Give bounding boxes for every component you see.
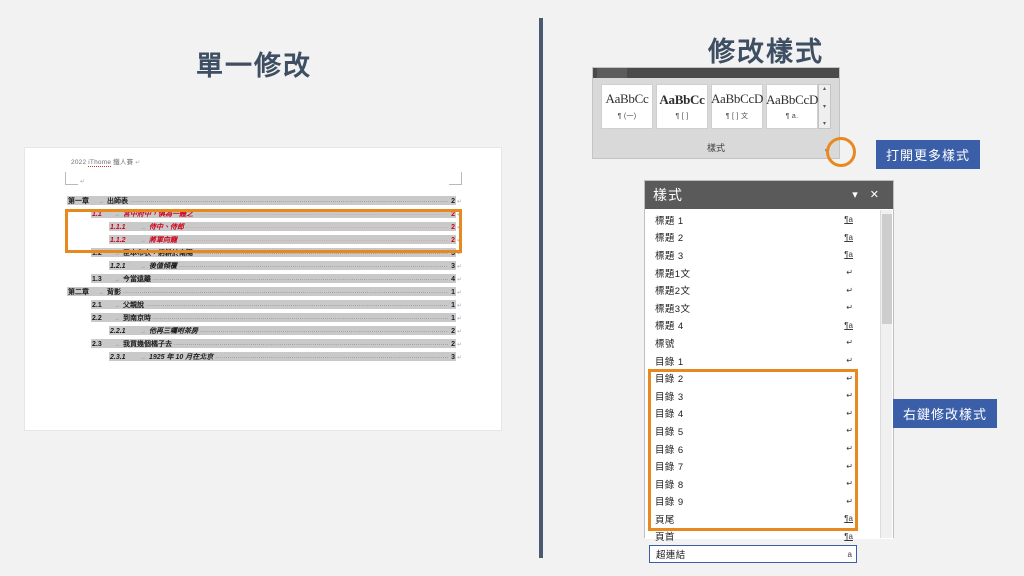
tab-arrow-icon: →: [140, 238, 149, 244]
style-name: 標題 3: [655, 248, 839, 262]
dialog-launcher-annotation-circle: [826, 137, 856, 167]
quick-style-thumbnail[interactable]: AaBbCcD¶ [ ] 文: [711, 84, 763, 129]
toc-entry-text: 將軍向寵: [149, 235, 177, 244]
style-list-item[interactable]: 標題 2¶a: [649, 229, 857, 247]
close-icon[interactable]: ✕: [864, 190, 885, 201]
style-type-icon: ¶a: [839, 321, 853, 330]
style-preview-text: AaBbCcD: [711, 92, 763, 106]
toc-page-number: 4: [450, 276, 455, 283]
style-list-item[interactable]: 目錄 4↵: [649, 405, 857, 423]
toc-leader-dots: ........................................…: [174, 341, 448, 347]
toc-leader-dots: ........................................…: [215, 354, 448, 360]
style-name: 目錄 2: [655, 371, 839, 385]
toc-page-number: 2: [450, 198, 455, 205]
toc-page-number: 1: [450, 315, 455, 322]
gallery-scroll-down-icon[interactable]: ▾: [823, 104, 826, 110]
style-list-item[interactable]: 目錄 9↵: [649, 493, 857, 511]
style-list-item[interactable]: 目錄 5↵: [649, 422, 857, 440]
toc-row: 第二章→背影..................................…: [67, 287, 462, 300]
style-type-icon: ↵: [839, 391, 853, 400]
toc-leader-dots: ........................................…: [179, 237, 448, 243]
style-list-item[interactable]: 目錄 6↵: [649, 440, 857, 458]
toc-number: 1.1.2: [110, 237, 140, 244]
ribbon-tab-bar: [593, 68, 839, 78]
style-list-item[interactable]: 標題1文↵: [649, 264, 857, 282]
style-type-icon: ↵: [839, 462, 853, 471]
style-preview-text: AaBbCc: [606, 92, 649, 106]
toc-page-number: 3: [450, 263, 455, 270]
style-list-item[interactable]: 目錄 3↵: [649, 387, 857, 405]
style-thumbnail-label: ¶ [ ] 文: [726, 111, 749, 121]
toc-row: 1.1.1→侍中、侍郎.............................…: [67, 222, 462, 235]
paragraph-mark-icon: ↵: [456, 341, 462, 348]
tab-arrow-icon: →: [140, 355, 149, 361]
style-thumbnail-label: ¶ a.: [786, 113, 799, 120]
toc-row: 1.2.1→後值傾覆..............................…: [67, 261, 462, 274]
empty-paragraph-mark-icon: ↵: [80, 178, 85, 185]
style-name: 頁首: [655, 529, 839, 543]
quick-style-thumbnail[interactable]: AaBbCc¶ [ ]: [656, 84, 708, 129]
tab-arrow-icon: →: [114, 277, 123, 283]
toc-leader-dots: ........................................…: [186, 224, 448, 230]
table-of-contents: 第一章→出師表.................................…: [67, 196, 462, 365]
toc-entry-text: 侍中、侍郎: [149, 222, 184, 231]
styles-pane-scrollbar[interactable]: [880, 210, 892, 538]
toc-entry-text: 後值傾覆: [149, 261, 177, 270]
paragraph-mark-icon: ↵: [456, 302, 462, 309]
style-type-icon: ¶a: [839, 215, 853, 224]
toc-entry-text: 出師表: [107, 196, 128, 205]
style-name: 標題 4: [655, 318, 839, 332]
paragraph-mark-icon: ↵: [456, 263, 462, 270]
style-name: 目錄 9: [655, 494, 839, 508]
toc-page-number: 2: [450, 211, 455, 218]
center-divider: [539, 18, 543, 558]
style-name: 超連結: [656, 547, 838, 561]
quick-styles-gallery[interactable]: AaBbCc¶ (一)AaBbCc¶ [ ]AaBbCcD¶ [ ] 文AaBb…: [601, 84, 818, 129]
toc-page-number: 1: [450, 302, 455, 309]
tab-arrow-icon: →: [114, 316, 123, 322]
toc-leader-dots: ........................................…: [200, 328, 448, 334]
toc-row: 2.1→父親說.................................…: [67, 300, 462, 313]
toc-entry-text: 背影: [107, 287, 121, 296]
tab-arrow-icon: →: [98, 199, 107, 205]
style-thumbnail-label: ¶ [ ]: [675, 113, 688, 120]
toc-number: 2.1: [92, 302, 114, 309]
tab-arrow-icon: →: [114, 342, 123, 348]
paragraph-mark-icon: ↵: [456, 211, 462, 218]
styles-pane-header: 樣式 ▾ ✕: [645, 181, 893, 209]
tab-arrow-icon: →: [114, 303, 123, 309]
style-name: 頁尾: [655, 512, 839, 526]
style-type-icon: ↵: [839, 286, 853, 295]
style-list-item[interactable]: 目錄 1↵: [649, 352, 857, 370]
style-name: 目錄 5: [655, 424, 839, 438]
style-name: 標題2文: [655, 283, 839, 297]
quick-style-thumbnail[interactable]: AaBbCcD¶ a.: [766, 84, 818, 129]
toc-leader-dots: ........................................…: [123, 289, 448, 295]
toc-entry-text: 宮中府中，俱為一體之: [123, 209, 193, 218]
toc-page-number: 2: [450, 341, 455, 348]
style-name: 目錄 4: [655, 406, 839, 420]
slide-canvas: 單一修改 修改樣式 2022 iThome 鐵人賽 ↵ ↵ 第一章→出師表...…: [0, 0, 1024, 576]
toc-row-shading: 2.3.1→1925 年 10 月在北京....................…: [109, 352, 456, 361]
gallery-scroll-buttons[interactable]: ▴ ▾ ▾: [818, 84, 831, 129]
style-type-icon: ¶a: [839, 532, 853, 541]
style-list-item[interactable]: 目錄 8↵: [649, 475, 857, 493]
toc-number: 1.2.1: [110, 263, 140, 270]
toc-row-shading: 1.1.1→侍中、侍郎.............................…: [109, 222, 456, 231]
style-list-item[interactable]: 超連結a: [649, 545, 857, 563]
toc-row-shading: 1.2→臣本布衣，躬耕於南陽..........................…: [91, 248, 456, 257]
toc-page-number: 2: [450, 328, 455, 335]
toc-number: 第二章: [68, 287, 98, 296]
toc-row: 1.1.2→將軍向寵..............................…: [67, 235, 462, 248]
style-name: 目錄 3: [655, 389, 839, 403]
header-brand: iThome: [88, 159, 111, 167]
toc-number: 2.2: [92, 315, 114, 322]
paragraph-mark-icon: ↵: [456, 289, 462, 296]
toc-entry-text: 父親說: [123, 300, 144, 309]
style-type-icon: ↵: [839, 444, 853, 453]
toc-row-shading: 1.1→宮中府中，俱為一體之..........................…: [91, 209, 456, 218]
toc-entry-text: 到南京時: [123, 313, 151, 322]
tab-arrow-icon: →: [114, 251, 123, 257]
paragraph-mark-icon: ↵: [456, 354, 462, 361]
page-title-right: 修改樣式: [708, 30, 824, 69]
toc-leader-dots: ........................................…: [195, 250, 448, 256]
styles-task-pane: 樣式 ▾ ✕ 標題 1¶a標題 2¶a標題 3¶a標題1文↵標題2文↵標題3文↵…: [644, 180, 894, 538]
toc-leader-dots: ........................................…: [179, 263, 448, 269]
page-corner-top-right-icon: [449, 172, 462, 185]
style-type-icon: ↵: [839, 409, 853, 418]
toc-entry-text: 1925 年 10 月在北京: [149, 352, 213, 361]
style-list-item[interactable]: 目錄 2↵: [649, 369, 857, 387]
gallery-scroll-up-icon[interactable]: ▴: [823, 86, 826, 92]
scrollbar-thumb[interactable]: [882, 214, 892, 324]
paragraph-mark-icon: ↵: [135, 160, 140, 166]
styles-pane-body: 標題 1¶a標題 2¶a標題 3¶a標題1文↵標題2文↵標題3文↵標題 4¶a標…: [645, 209, 893, 539]
style-name: 目錄 8: [655, 477, 839, 491]
header-year: 2022: [71, 159, 86, 166]
style-type-icon: ↵: [839, 268, 853, 277]
toc-row-shading: 2.2.1→他再三囑咐茶房...........................…: [109, 326, 456, 335]
style-list-item[interactable]: 標題 1¶a: [649, 211, 857, 229]
style-list-item[interactable]: 標題2文↵: [649, 281, 857, 299]
chevron-down-icon[interactable]: ▾: [846, 190, 864, 201]
toc-page-number: 2: [450, 237, 455, 244]
callout-open-more-styles: 打開更多樣式: [876, 140, 980, 169]
style-list-item[interactable]: 標題 3¶a: [649, 246, 857, 264]
toc-leader-dots: ........................................…: [153, 276, 448, 282]
toc-entry-text: 我買幾個橘子去: [123, 339, 172, 348]
style-type-icon: ↵: [839, 479, 853, 488]
toc-row-shading: 第二章→背影..................................…: [67, 287, 456, 296]
style-list-item[interactable]: 標題 4¶a: [649, 317, 857, 335]
tab-arrow-icon: →: [140, 225, 149, 231]
document-header-text: 2022 iThome 鐵人賽 ↵: [71, 156, 141, 166]
toc-row-shading: 1.3→今當遠離................................…: [91, 274, 456, 283]
toc-row: 2.2→到南京時................................…: [67, 313, 462, 326]
toc-number: 1.1: [92, 211, 114, 218]
style-thumbnail-label: ¶ (一): [618, 111, 637, 121]
style-list-item[interactable]: 目錄 7↵: [649, 457, 857, 475]
toc-row-shading: 第一章→出師表.................................…: [67, 196, 456, 205]
toc-number: 1.1.1: [110, 224, 140, 231]
style-type-icon: ¶a: [839, 233, 853, 242]
style-type-icon: ↵: [839, 497, 853, 506]
styles-pane-title: 樣式: [653, 185, 846, 205]
toc-row: 1.3→今當遠離................................…: [67, 274, 462, 287]
callout-right-click-modify: 右鍵修改樣式: [893, 399, 997, 428]
toc-leader-dots: ........................................…: [146, 302, 448, 308]
toc-row: 2.2.1→他再三囑咐茶房...........................…: [67, 326, 462, 339]
tab-arrow-icon: →: [140, 264, 149, 270]
toc-row: 2.3.1→1925 年 10 月在北京....................…: [67, 352, 462, 365]
style-list-item[interactable]: 標題3文↵: [649, 299, 857, 317]
styles-list[interactable]: 標題 1¶a標題 2¶a標題 3¶a標題1文↵標題2文↵標題3文↵標題 4¶a標…: [649, 211, 857, 563]
style-name: 標題 2: [655, 230, 839, 244]
style-name: 標題1文: [655, 266, 839, 280]
ribbon-tab-stub[interactable]: [597, 68, 627, 78]
style-name: 目錄 1: [655, 354, 839, 368]
tab-arrow-icon: →: [98, 290, 107, 296]
toc-leader-dots: ........................................…: [195, 211, 448, 217]
style-list-item[interactable]: 頁首¶a: [649, 528, 857, 546]
toc-leader-dots: ........................................…: [153, 315, 448, 321]
style-type-icon: a: [838, 550, 852, 559]
paragraph-mark-icon: ↵: [456, 276, 462, 283]
paragraph-mark-icon: ↵: [456, 198, 462, 205]
toc-number: 2.3: [92, 341, 114, 348]
toc-number: 1.2: [92, 250, 114, 257]
style-type-icon: ↵: [839, 356, 853, 365]
style-type-icon: ↵: [839, 426, 853, 435]
toc-page-number: 1: [450, 289, 455, 296]
toc-row: 2.3→我買幾個橘子去.............................…: [67, 339, 462, 352]
style-name: 標題 1: [655, 213, 839, 227]
toc-row: 1.2→臣本布衣，躬耕於南陽..........................…: [67, 248, 462, 261]
toc-row: 第一章→出師表.................................…: [67, 196, 462, 209]
style-type-icon: ↵: [839, 338, 853, 347]
word-document-screenshot: 2022 iThome 鐵人賽 ↵ ↵ 第一章→出師表.............…: [25, 148, 501, 430]
style-type-icon: ¶a: [839, 250, 853, 259]
toc-row-shading: 2.2→到南京時................................…: [91, 313, 456, 322]
toc-row-shading: 1.1.2→將軍向寵..............................…: [109, 235, 456, 244]
toc-row-shading: 2.3→我買幾個橘子去.............................…: [91, 339, 456, 348]
style-name: 目錄 6: [655, 442, 839, 456]
style-name: 目錄 7: [655, 459, 839, 473]
ribbon-styles-group: AaBbCc¶ (一)AaBbCc¶ [ ]AaBbCcD¶ [ ] 文AaBb…: [592, 67, 840, 159]
toc-number: 2.3.1: [110, 354, 140, 361]
paragraph-mark-icon: ↵: [456, 250, 462, 257]
paragraph-mark-icon: ↵: [456, 237, 462, 244]
toc-entry-text: 臣本布衣，躬耕於南陽: [123, 248, 193, 257]
toc-page-number: 3: [450, 354, 455, 361]
toc-row-shading: 1.2.1→後值傾覆..............................…: [109, 261, 456, 270]
style-name: 標號: [655, 336, 839, 350]
toc-number: 第一章: [68, 196, 98, 205]
style-preview-text: AaBbCcD: [766, 93, 818, 107]
tab-arrow-icon: →: [140, 329, 149, 335]
paragraph-mark-icon: ↵: [456, 328, 462, 335]
style-name: 標題3文: [655, 301, 839, 315]
page-corner-top-left-icon: [65, 172, 78, 185]
ribbon-group-label: 樣式: [593, 141, 839, 154]
toc-row-shading: 2.1→父親說.................................…: [91, 300, 456, 309]
toc-page-number: 2: [450, 224, 455, 231]
style-type-icon: ↵: [839, 303, 853, 312]
style-list-item[interactable]: 頁尾¶a: [649, 510, 857, 528]
style-list-item[interactable]: 標號↵: [649, 334, 857, 352]
toc-number: 2.2.1: [110, 328, 140, 335]
style-type-icon: ↵: [839, 374, 853, 383]
toc-entry-text: 他再三囑咐茶房: [149, 326, 198, 335]
header-event: 鐵人賽: [113, 159, 133, 166]
tab-arrow-icon: →: [114, 212, 123, 218]
toc-leader-dots: ........................................…: [130, 198, 448, 204]
gallery-more-icon[interactable]: ▾: [823, 121, 826, 127]
paragraph-mark-icon: ↵: [456, 224, 462, 231]
style-preview-text: AaBbCc: [659, 93, 704, 107]
paragraph-mark-icon: ↵: [456, 315, 462, 322]
page-title-left: 單一修改: [196, 44, 312, 83]
style-type-icon: ¶a: [839, 514, 853, 523]
quick-style-thumbnail[interactable]: AaBbCc¶ (一): [601, 84, 653, 129]
toc-entry-text: 今當遠離: [123, 274, 151, 283]
toc-row: 1.1→宮中府中，俱為一體之..........................…: [67, 209, 462, 222]
toc-number: 1.3: [92, 276, 114, 283]
toc-page-number: 3: [450, 250, 455, 257]
